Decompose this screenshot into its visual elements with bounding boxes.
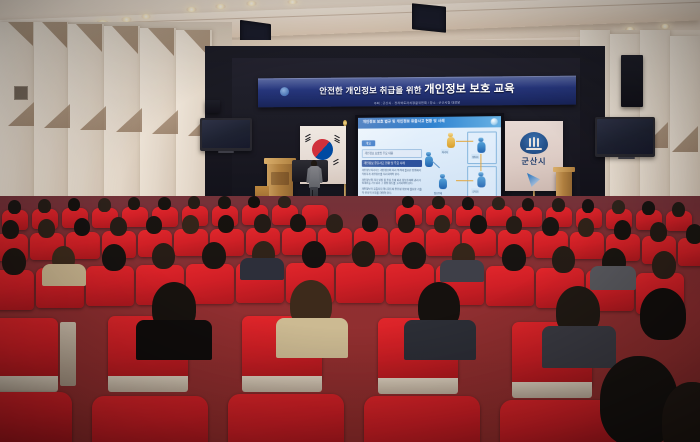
slide-paragraph: 개인정보의 처리 방법 및 종류 등에 따라 정보주체의 권리가 침해받을 가능… — [362, 178, 422, 186]
audience-seating-area — [0, 196, 700, 442]
ceiling-downlight — [186, 7, 197, 12]
diagram-node — [475, 138, 486, 153]
diagram-node — [445, 133, 456, 148]
ceiling-downlight — [660, 24, 670, 29]
podium-right-top — [553, 167, 575, 172]
podium-left-panel — [271, 172, 289, 185]
slide-tag: 개요 — [362, 140, 375, 146]
monitor-left-screen — [202, 120, 250, 148]
ceiling-downlight — [215, 4, 226, 9]
diagram-node — [437, 174, 448, 189]
slide-header-bar: 개인정보 보호 법규 및 개인정보 유출사고 현황 및 사례 — [358, 116, 501, 129]
projection-screen: 개인정보 보호 법규 및 개인정보 유출사고 현황 및 사례 개요 개인정보 보… — [358, 116, 501, 203]
auditorium-photo: 안전한 개인정보 취급을 위한 개인정보 보호 교육 주최 : 군산시 · 전라… — [0, 0, 700, 442]
event-banner: 안전한 개인정보 취급을 위한 개인정보 보호 교육 주최 : 군산시 · 전라… — [258, 76, 576, 108]
diagram-node — [423, 152, 434, 167]
monitor-right — [595, 117, 655, 157]
slide-emblem-icon — [491, 118, 498, 125]
emblem-cloth: 군산시 — [505, 121, 563, 191]
slide-subbar: 개인정보 보호법 주요 내용 — [362, 149, 422, 158]
banner-title: 개인정보 보호 교육 — [424, 83, 515, 96]
slide-text-column: 개요 개인정보 보호법 주요 내용 개인정보 유출사고 현황 및 주요 사례 개… — [362, 131, 422, 197]
diagram-arrow — [456, 180, 473, 181]
gunsan-city-logo-icon — [520, 132, 548, 154]
speaker-right — [621, 55, 643, 107]
slide-paragraph: 개인정보처리자는 개인정보의 처리 목적에 필요한 범위에서 적합하게 개인정보… — [362, 169, 422, 176]
ceiling-vent-panel — [412, 3, 446, 33]
diagram-node-label: 수탁자 — [471, 188, 479, 193]
ceiling-downlight — [287, 0, 298, 4]
diagram-node — [475, 172, 486, 187]
speaker-left — [205, 100, 220, 113]
emblem-label: 군산시 — [505, 156, 563, 167]
diagram-node-label: 위탁자 — [471, 154, 479, 159]
banner-headline: 안전한 개인정보 취급을 위한 개인정보 보호 교육 — [258, 80, 576, 99]
diagram-node-label: 정보주체 — [433, 190, 443, 195]
monitor-right-mount — [618, 157, 635, 159]
monitor-right-screen — [597, 119, 653, 154]
slide-header-title: 개인정보 보호 법규 및 개인정보 유출사고 현황 및 사례 — [363, 119, 445, 125]
ceiling-downlight — [246, 1, 257, 6]
emblem-lower-mark-icon — [527, 173, 540, 187]
diagram-node-label: 처리자 — [441, 149, 449, 154]
slide-highlight-bar: 개인정보 유출사고 현황 및 주요 사례 — [362, 160, 422, 167]
monitor-left-mount — [218, 151, 234, 153]
diagram-arrow — [456, 141, 473, 142]
diagram-arrow — [480, 154, 481, 171]
monitor-left — [200, 118, 252, 151]
ceiling-downlight — [141, 14, 151, 19]
slide-diagram: 처리자 위탁자 수탁자 정보주체 — [423, 129, 498, 200]
banner-prefix: 안전한 개인정보 취급을 위한 — [319, 85, 421, 96]
projection-screen-frame: 개인정보 보호 법규 및 개인정보 유출사고 현황 및 사례 개요 개인정보 보… — [355, 113, 504, 207]
wall-access-panel — [14, 86, 28, 100]
slide-paragraph: 개인정보가 유출되지 아니하도록 안전성 확보에 필요한 기술적·관리적 조치를… — [362, 187, 422, 195]
city-emblem-flag: 군산시 — [505, 121, 563, 193]
